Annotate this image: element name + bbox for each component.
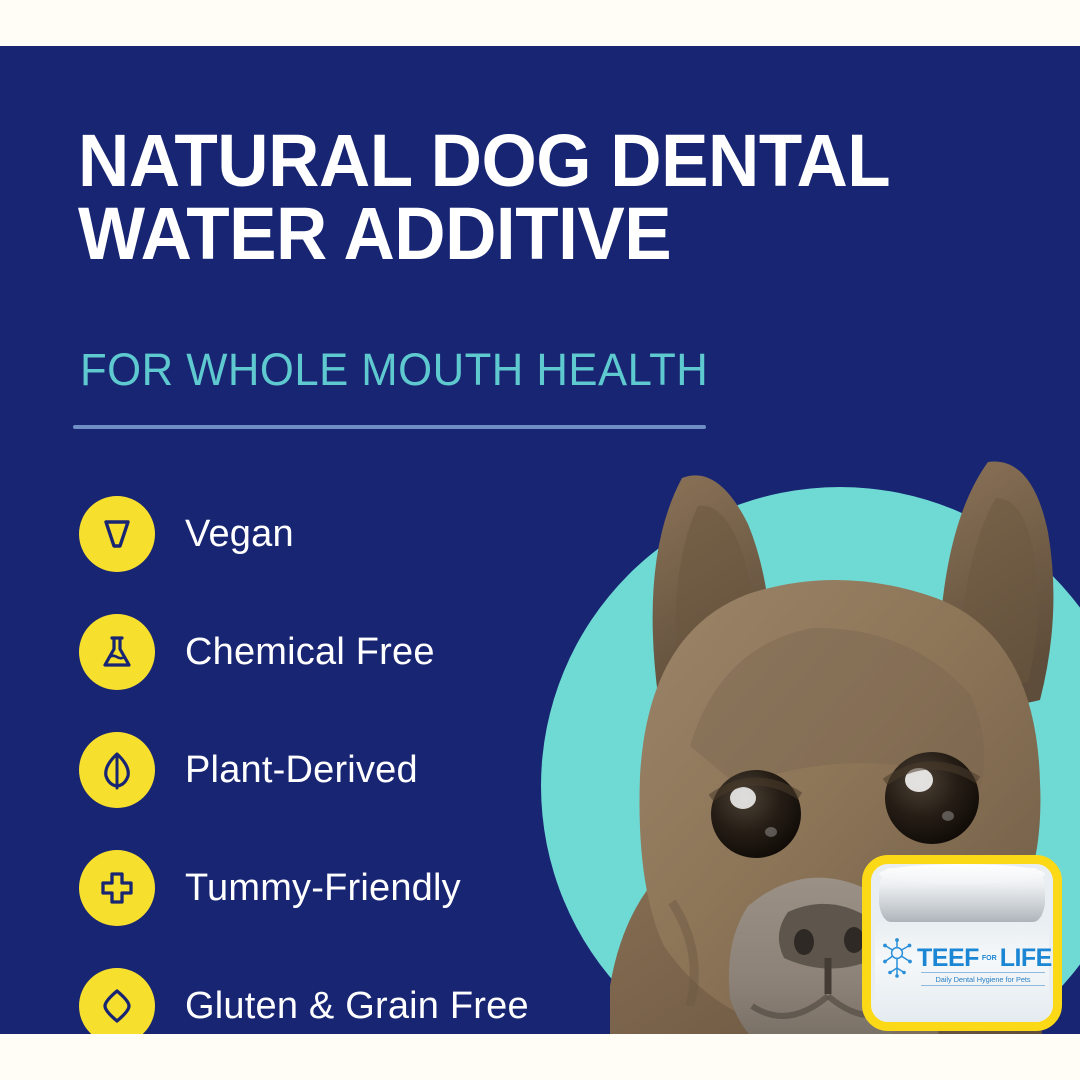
jar-lid-top: [879, 864, 1045, 884]
brand-wordmark: TEEF FOR LIFE: [917, 946, 1052, 971]
product-jar: TEEF FOR LIFE Daily Dental Hygiene for P…: [862, 855, 1062, 1031]
brand-middle: FOR: [982, 955, 997, 962]
brand-first: TEEF: [917, 946, 979, 971]
list-item: Chemical Free: [79, 614, 599, 690]
feature-list: Vegan Chemical Free Pl: [79, 496, 599, 1034]
promo-graphic: NATURAL DOG DENTAL WATER ADDITIVE FOR WH…: [0, 0, 1080, 1080]
leaf-icon: [79, 732, 155, 808]
subtitle: FOR WHOLE MOUTH HEALTH: [80, 344, 708, 396]
list-item: Plant-Derived: [79, 732, 599, 808]
molecule-burst-icon: [881, 938, 915, 978]
page-title: NATURAL DOG DENTAL WATER ADDITIVE: [78, 124, 923, 271]
flask-icon: [79, 614, 155, 690]
vegan-v-icon: [79, 496, 155, 572]
list-item-label: Vegan: [185, 513, 294, 556]
list-item-label: Tummy-Friendly: [185, 867, 461, 910]
list-item-label: Chemical Free: [185, 631, 435, 674]
list-item-label: Gluten & Grain Free: [185, 985, 529, 1028]
list-item: Gluten & Grain Free: [79, 968, 599, 1034]
list-item-label: Plant-Derived: [185, 749, 418, 792]
medical-cross-icon: [79, 850, 155, 926]
list-item: Vegan: [79, 496, 599, 572]
divider: [73, 425, 706, 429]
brand-last: LIFE: [1000, 946, 1052, 971]
grain-seed-icon: [79, 968, 155, 1034]
list-item: Tummy-Friendly: [79, 850, 599, 926]
product-tagline: Daily Dental Hygiene for Pets: [921, 972, 1045, 986]
